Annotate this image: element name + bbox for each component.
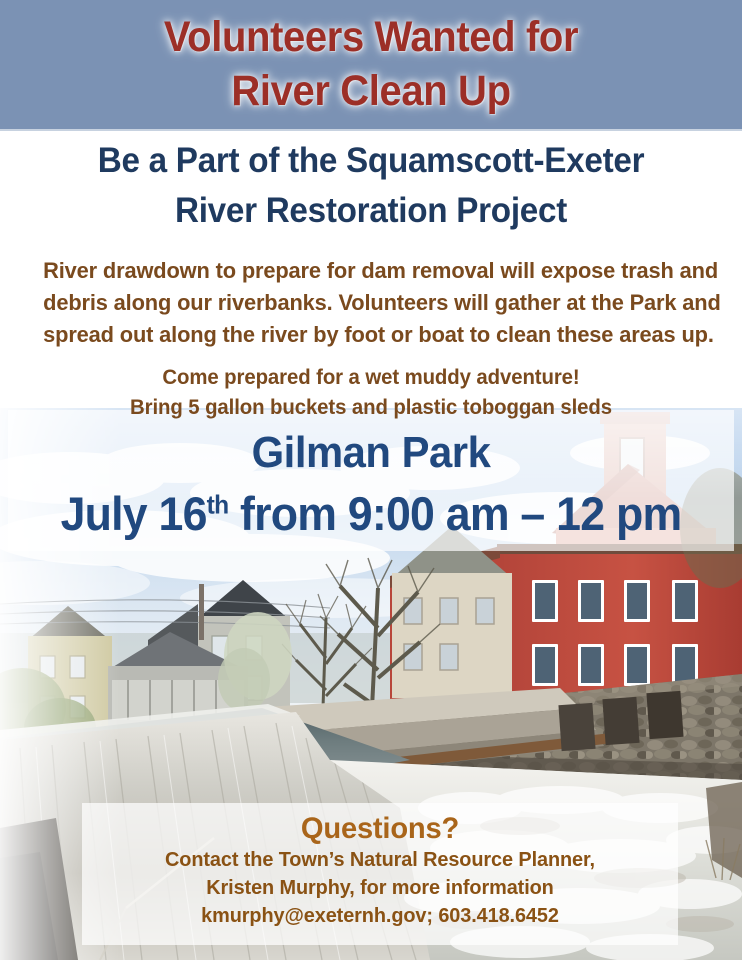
description-line1: River drawdown to prepare for dam remova… [43, 255, 699, 287]
event-time: from 9:00 am – 12 pm [228, 487, 681, 540]
questions-heading: Questions? [91, 812, 669, 846]
contact-email-phone: kmurphy@exeternh.gov; 603.418.6452 [91, 902, 669, 930]
preparation-note-line2: Bring 5 gallon buckets and plastic tobog… [11, 393, 731, 423]
event-datetime: July 16th from 9:00 am – 12 pm [19, 486, 724, 541]
questions-block: Questions? Contact the Town’s Natural Re… [91, 803, 669, 945]
flyer-poster: Volunteers Wanted for River Clean Up Be … [0, 0, 742, 960]
description-line3: spread out along the river by foot or bo… [43, 319, 699, 351]
preparation-note-line1: Come prepared for a wet muddy adventure! [11, 363, 731, 393]
event-date: July 16 [61, 487, 207, 540]
contact-line1: Contact the Town’s Natural Resource Plan… [91, 846, 669, 874]
project-subtitle-line1: Be a Part of the Squamscott-Exeter [19, 140, 724, 182]
preparation-note: Come prepared for a wet muddy adventure!… [11, 363, 731, 423]
project-subtitle-line2: River Restoration Project [19, 190, 724, 232]
poster-title-line1: Volunteers Wanted for [26, 12, 716, 63]
event-venue: Gilman Park [19, 428, 724, 478]
poster-title-line2: River Clean Up [26, 66, 716, 117]
description-paragraph: River drawdown to prepare for dam remova… [43, 255, 699, 351]
contact-line2: Kristen Murphy, for more information [91, 874, 669, 902]
description-line2: debris along our riverbanks. Volunteers … [43, 287, 699, 319]
header-banner: Volunteers Wanted for River Clean Up [0, 0, 742, 131]
event-date-ordinal: th [207, 491, 229, 519]
